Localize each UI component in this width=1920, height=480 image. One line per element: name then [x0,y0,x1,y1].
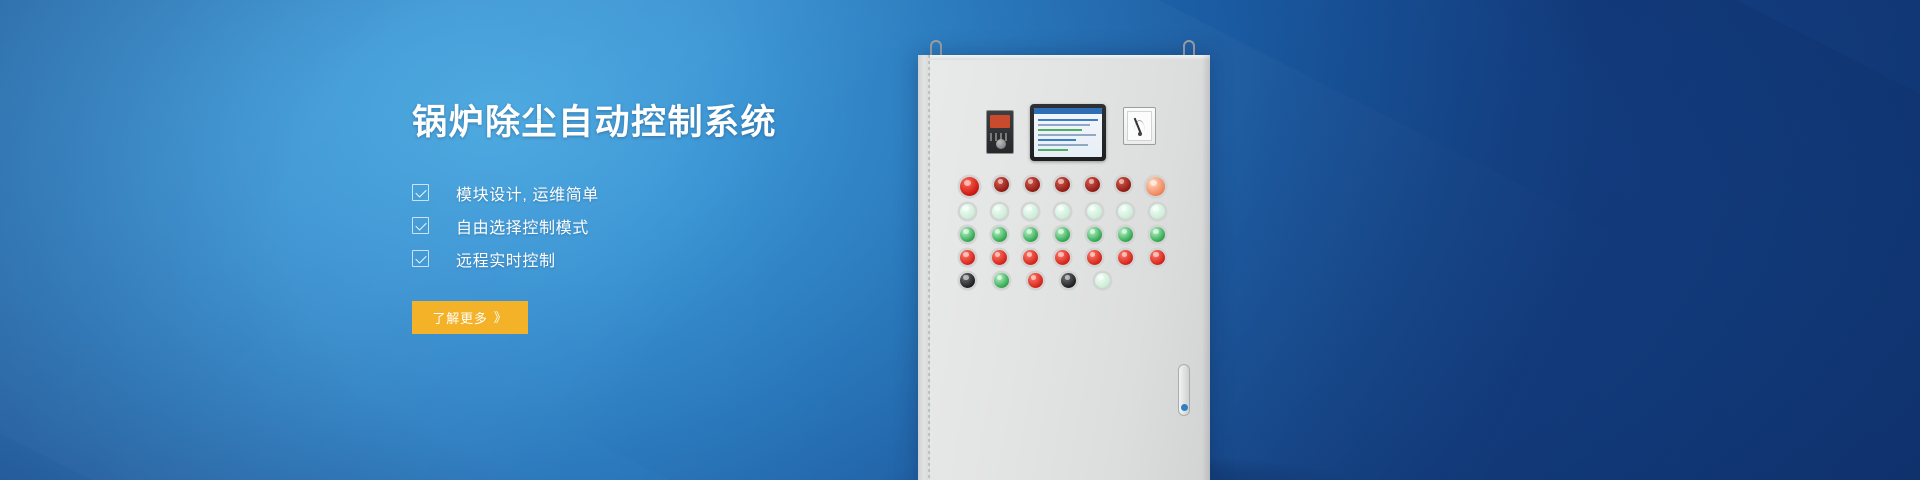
indicator-lamp-pale-green[interactable] [1118,204,1133,219]
indicator-lamp-red[interactable] [1116,177,1131,192]
hero-banner: 锅炉除尘自动控制系统 模块设计, 运维简单 自由选择控制模式 远程实时控制 了解… [0,0,1920,480]
feature-label: 模块设计, 运维简单 [456,181,599,205]
hmi-screen [1034,108,1102,157]
analog-meter-device [1123,107,1156,145]
list-item: 远程实时控制 [412,242,932,275]
indicator-lamp-red[interactable] [1087,250,1102,265]
indicator-lamp-pale-green[interactable] [1023,204,1038,219]
indicator-lamp-pale-green[interactable] [1150,204,1165,219]
indicator-lamp-red[interactable] [992,250,1007,265]
indicator-lamp-pale-green[interactable] [960,204,975,219]
indicator-lamp-red[interactable] [1150,250,1165,265]
lamp-row [960,273,1110,288]
indicator-lamp-red[interactable] [1055,250,1070,265]
door-handle[interactable] [1178,364,1190,416]
hmi-screen-line [1038,134,1096,136]
control-cabinet-body [918,55,1210,480]
indicator-lamp-amber[interactable] [1146,177,1165,196]
indicator-lamp-green[interactable] [1150,227,1165,242]
emergency-stop-button[interactable] [960,177,979,196]
indicator-lamp-green[interactable] [960,227,975,242]
indicator-lamp-pale-green[interactable] [1087,204,1102,219]
meter-pivot [1138,132,1142,136]
hmi-title-bar [1034,108,1102,114]
pushbutton-black[interactable] [1061,273,1076,288]
list-item: 自由选择控制模式 [412,209,932,242]
feature-label: 自由选择控制模式 [456,214,589,238]
digital-timer-device[interactable] [986,110,1014,154]
lock-icon[interactable] [1181,404,1188,411]
cabinet-right-edge [1202,55,1210,480]
learn-more-button[interactable]: 了解更多 》 [412,301,528,334]
pushbutton-green[interactable] [994,273,1009,288]
check-icon [412,250,429,267]
indicator-lamp-pale-green[interactable] [992,204,1007,219]
page-title: 锅炉除尘自动控制系统 [412,105,932,140]
indicator-lamp-green[interactable] [1118,227,1133,242]
list-item: 模块设计, 运维简单 [412,176,932,209]
pushbutton-black[interactable] [960,273,975,288]
indicator-lamp-green[interactable] [1087,227,1102,242]
lifting-hook-icon [1183,40,1195,56]
hmi-screen-line [1038,139,1076,141]
indicator-lamp-red[interactable] [1025,177,1040,192]
hmi-screen-line [1038,129,1082,131]
lamp-row [960,250,1165,265]
learn-more-label: 了解更多 [432,308,487,327]
meter-face [1127,111,1152,141]
check-icon [412,217,429,234]
pushbutton-pale-green[interactable] [1095,273,1110,288]
indicator-lamp-green[interactable] [992,227,1007,242]
feature-list: 模块设计, 运维简单 自由选择控制模式 远程实时控制 [412,176,932,275]
timer-display [990,115,1010,128]
feature-label: 远程实时控制 [456,247,556,271]
pushbutton-red[interactable] [1028,273,1043,288]
check-icon [412,184,429,201]
hmi-screen-line [1038,119,1098,121]
lamp-row [960,177,1165,196]
lamp-row [960,227,1165,242]
indicator-lamp-green[interactable] [1023,227,1038,242]
indicator-lamp-green[interactable] [1055,227,1070,242]
hmi-screen-line [1038,124,1090,126]
indicator-lamp-grid [960,177,1165,296]
indicator-lamp-red[interactable] [1055,177,1070,192]
control-cabinet-photo [900,0,1320,480]
lifting-hook-icon [930,40,942,56]
indicator-lamp-red[interactable] [1118,250,1133,265]
chevron-right-icon: 》 [494,311,508,324]
hmi-touch-panel[interactable] [1030,104,1106,161]
indicator-lamp-red[interactable] [960,250,975,265]
indicator-lamp-red[interactable] [1023,250,1038,265]
indicator-lamp-pale-green[interactable] [1055,204,1070,219]
timer-knob-icon[interactable] [996,139,1006,149]
indicator-lamp-red[interactable] [1085,177,1100,192]
lamp-row [960,204,1165,219]
hmi-screen-line [1038,144,1088,146]
hmi-screen-line [1038,149,1068,151]
cabinet-top-edge [918,55,1210,60]
indicator-lamp-red[interactable] [994,177,1009,192]
hero-copy: 锅炉除尘自动控制系统 模块设计, 运维简单 自由选择控制模式 远程实时控制 了解… [412,105,932,334]
